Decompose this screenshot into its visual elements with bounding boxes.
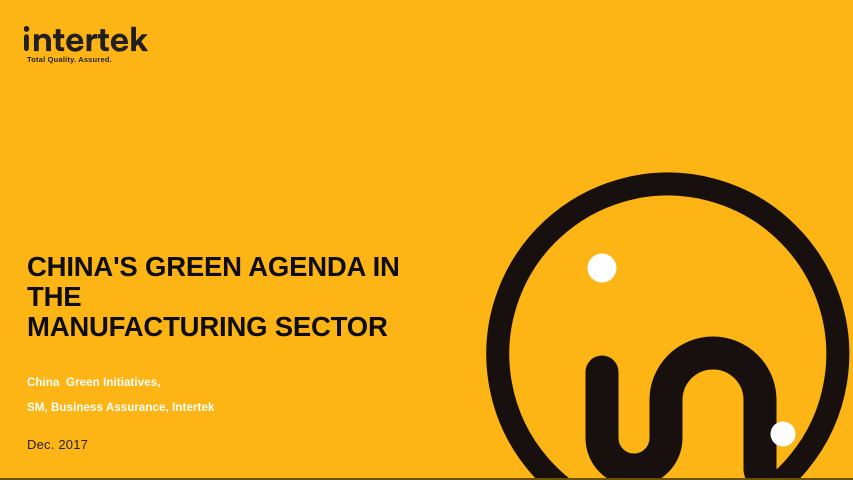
subtitle-line-1: China Green Initiatives,: [27, 371, 457, 396]
subtitle-block: China Green Initiatives, SM, Business As…: [27, 371, 457, 421]
monogram-i-dot-icon: [588, 254, 617, 283]
slide-text-block: CHINA'S GREEN AGENDA IN THE MANUFACTURIN…: [27, 252, 457, 452]
monogram-ring-icon: [429, 115, 853, 480]
title-slide: Total Quality. Assured. CHINA'S GREEN AG…: [0, 0, 853, 480]
intertek-monogram-watermark: [466, 150, 853, 480]
monogram-in-mark-icon: [602, 353, 760, 470]
logo-tagline: Total Quality. Assured.: [27, 55, 204, 64]
intertek-wordmark-icon: [24, 26, 206, 52]
intertek-logo: Total Quality. Assured.: [24, 26, 204, 64]
subtitle-line-2: SM, Business Assurance, Intertek: [27, 396, 457, 421]
slide-date: Dec. 2017: [27, 437, 457, 452]
monogram-gap-dot-icon: [771, 422, 796, 447]
page-title: CHINA'S GREEN AGENDA IN THE MANUFACTURIN…: [27, 252, 457, 342]
